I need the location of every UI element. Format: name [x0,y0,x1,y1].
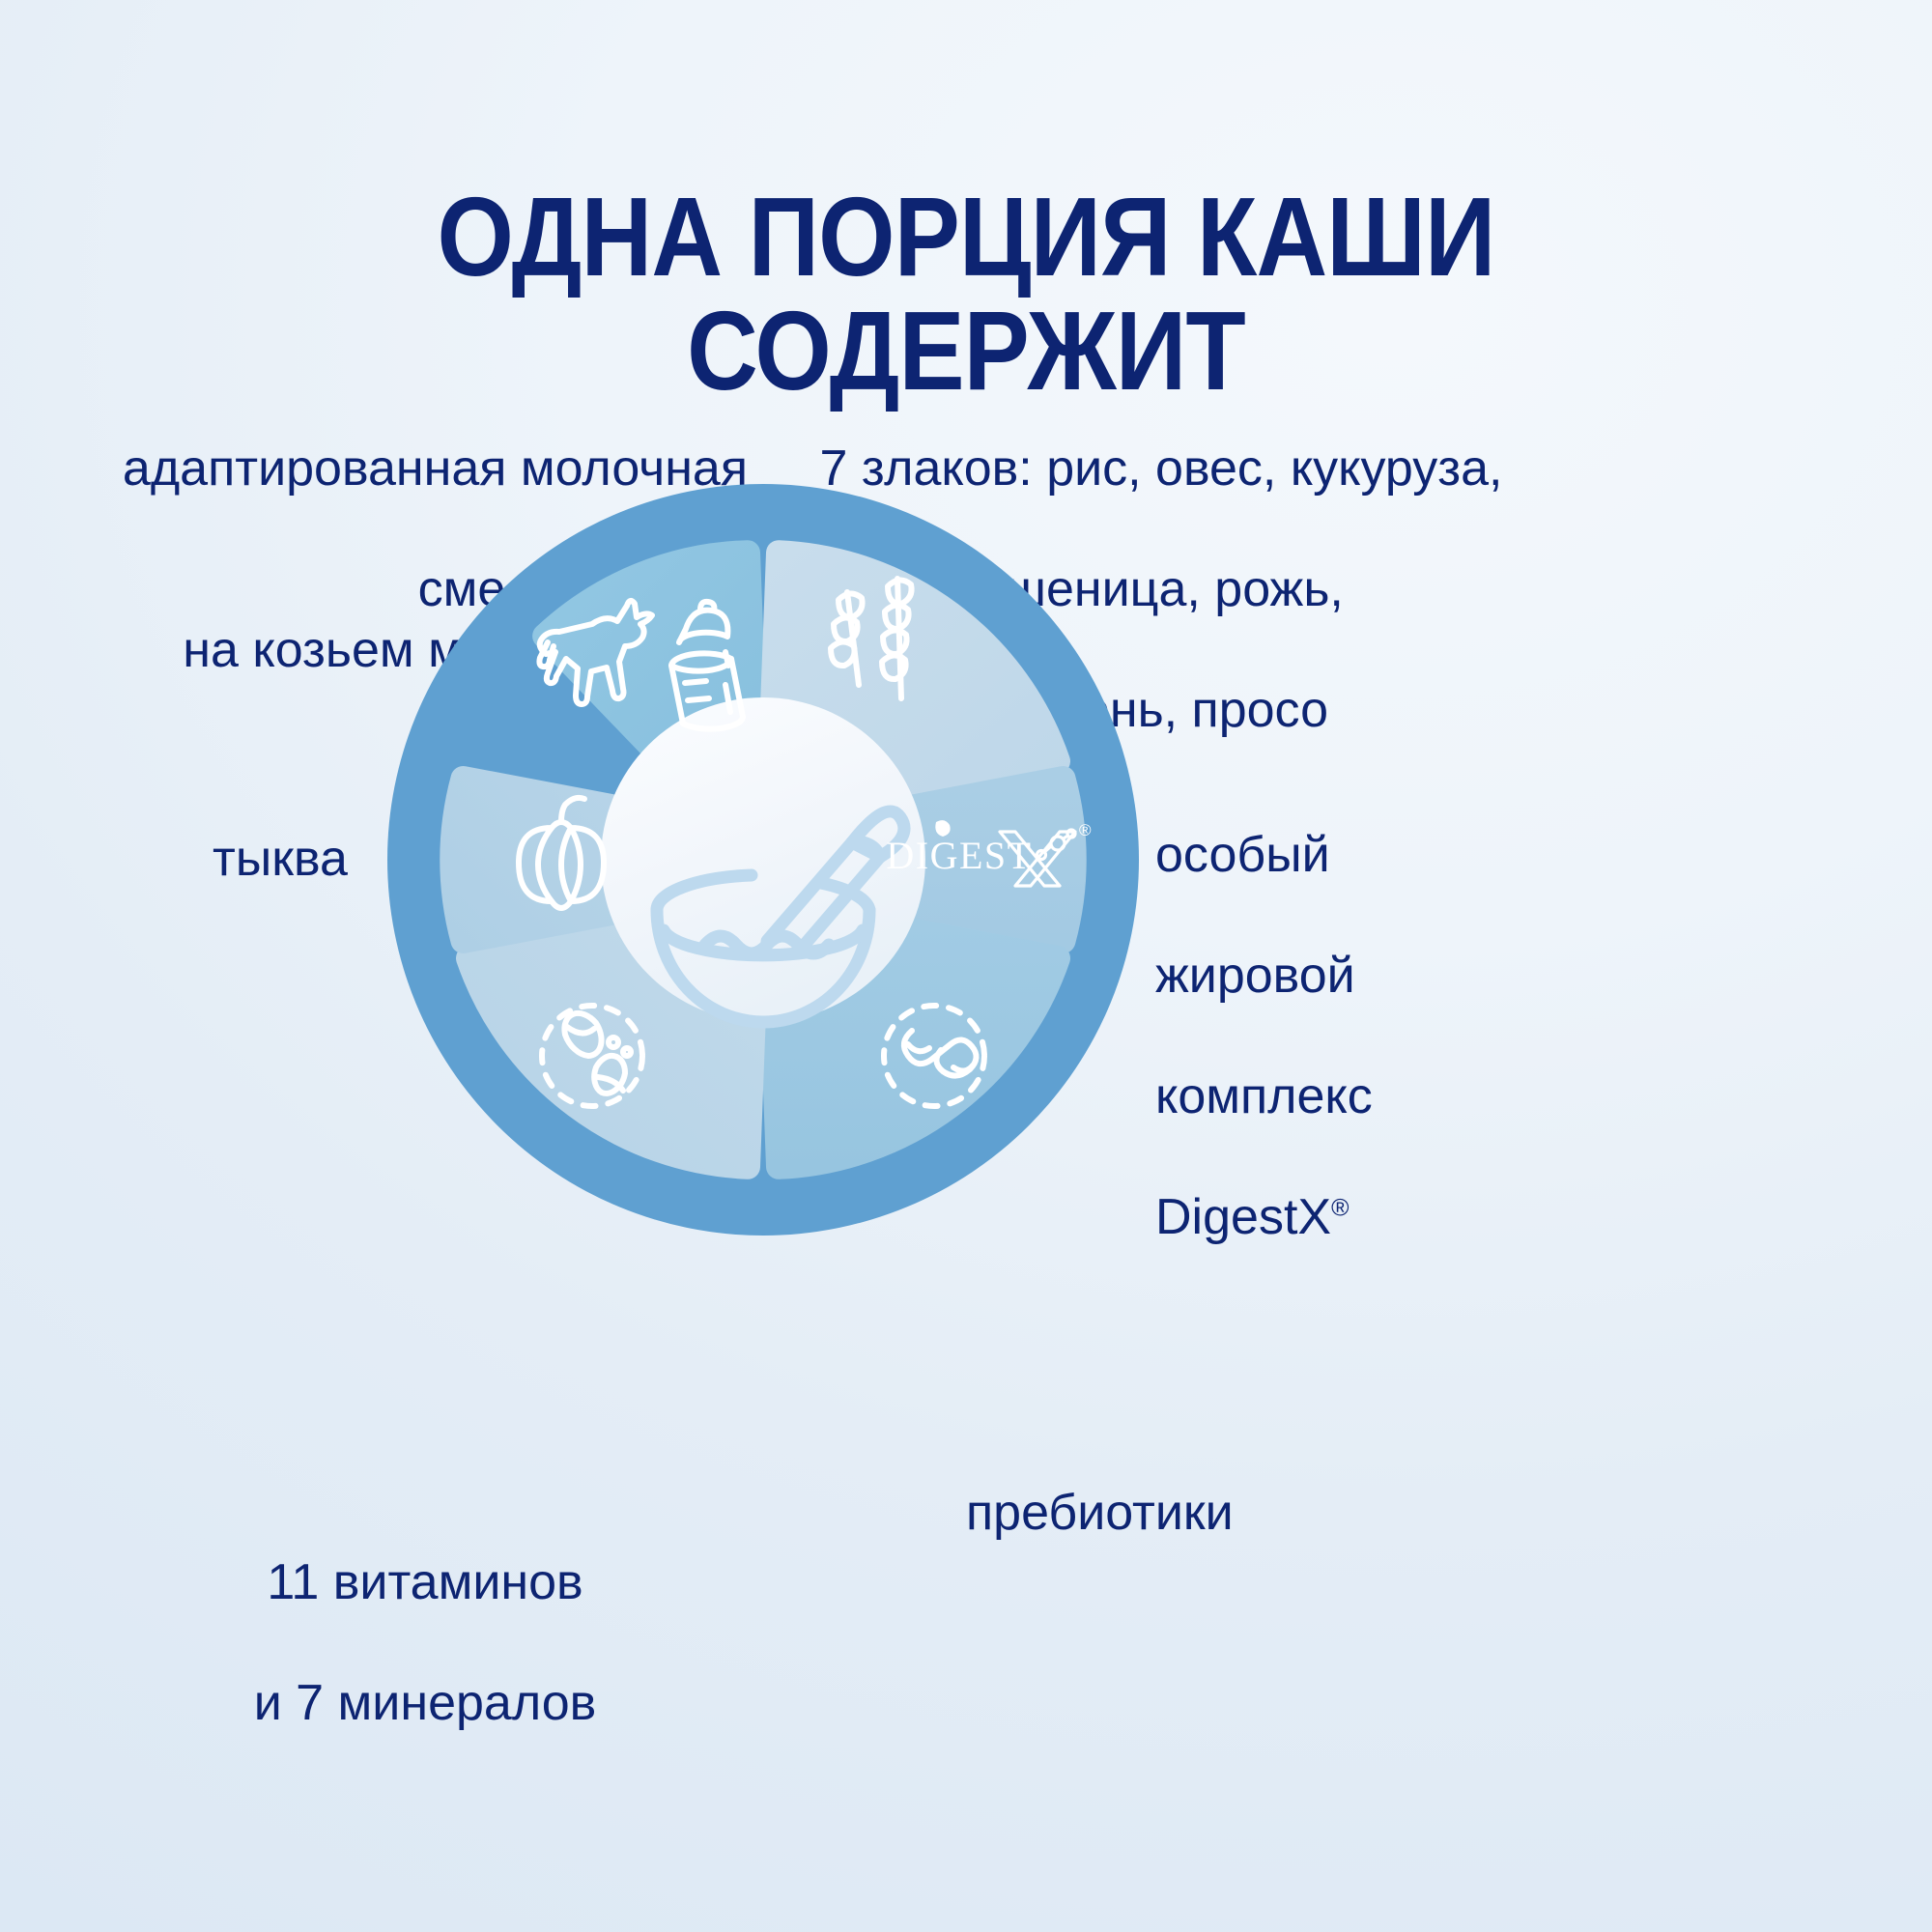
digestx-trademark: ® [1079,821,1092,839]
label-fat-line2: жировой [1155,948,1355,1004]
label-fat-complex: особый жировой комплекс DigestX® [1155,765,1561,1247]
label-vitamins-line1: 11 витаминов [267,1554,582,1610]
label-fat-trademark: ® [1331,1194,1349,1221]
segmented-wheel-diagram: DIGEST ® [382,478,1145,1241]
label-pumpkin: тыква [145,829,415,889]
label-prebiotics: пребиотики [966,1483,1372,1543]
digestx-word: DIGEST [886,834,1032,877]
label-fat-line3: комплекс [1155,1068,1373,1124]
label-vitamins-minerals: 11 витаминов и 7 минералов [145,1492,705,1734]
label-vitamins-line2: и 7 минералов [254,1675,597,1731]
label-fat-line4: DigestX [1155,1189,1331,1245]
label-fat-line1: особый [1155,827,1330,883]
infographic-poster: ОДНА ПОРЦИЯ КАШИ СОДЕРЖИТ адаптированная… [0,0,1932,1932]
page-title: ОДНА ПОРЦИЯ КАШИ СОДЕРЖИТ [116,180,1816,409]
